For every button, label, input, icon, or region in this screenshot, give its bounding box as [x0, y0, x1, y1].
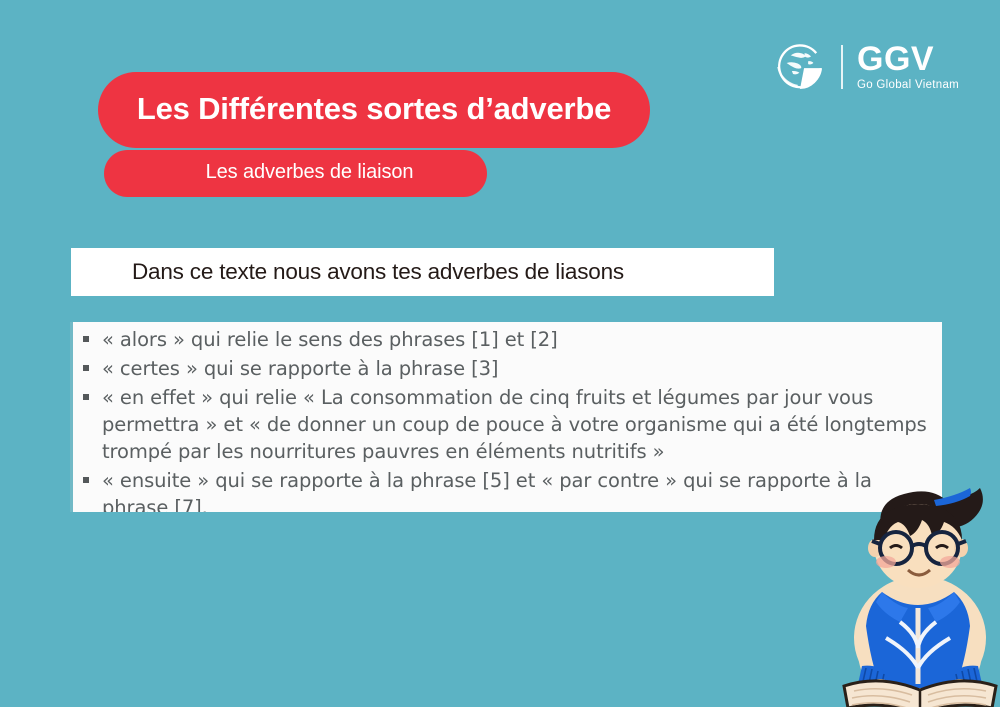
list-item-text: « ensuite » qui se rapporte à la phrase … — [102, 467, 932, 512]
bullet-square-icon — [76, 384, 102, 411]
list-item-text: « en effet » qui relie « La consommation… — [102, 384, 932, 465]
list-item: « ensuite » qui se rapporte à la phrase … — [76, 467, 932, 512]
instruction-text: Dans ce texte nous avons tes adverbes de… — [132, 259, 624, 285]
bullet-square-icon — [76, 355, 102, 382]
bullet-square-icon — [76, 467, 102, 494]
bullet-square-icon — [76, 326, 102, 353]
instruction-box: Dans ce texte nous avons tes adverbes de… — [71, 248, 774, 296]
logo-tagline: Go Global Vietnam — [857, 80, 959, 92]
page-title: Les Différentes sortes d’adverbe — [137, 91, 611, 127]
girl-reading-book-illustration — [838, 488, 1000, 707]
adverbs-list-box: « alors » qui relie le sens des phrases … — [70, 322, 942, 512]
list-item: « certes » qui se rapporte à la phrase [… — [76, 355, 932, 382]
list-item-text: « certes » qui se rapporte à la phrase [… — [102, 355, 498, 382]
slide-title-pill: Les Différentes sortes d’adverbe — [98, 72, 650, 148]
ggv-logo: GGV Go Global Vietnam — [771, 36, 971, 98]
slide-canvas: GGV Go Global Vietnam Les Différentes so… — [0, 0, 1000, 707]
list-item: « alors » qui relie le sens des phrases … — [76, 326, 932, 353]
page-subtitle: Les adverbes de liaison — [206, 161, 414, 184]
logo-wordmark: GGV Go Global Vietnam — [857, 42, 959, 92]
logo-name: GGV — [857, 42, 959, 76]
logo-divider — [841, 45, 843, 89]
list-item: « en effet » qui relie « La consommation… — [76, 384, 932, 465]
ggv-globe-g-icon — [771, 38, 829, 96]
list-item-text: « alors » qui relie le sens des phrases … — [102, 326, 558, 353]
slide-subtitle-pill: Les adverbes de liaison — [104, 150, 487, 197]
